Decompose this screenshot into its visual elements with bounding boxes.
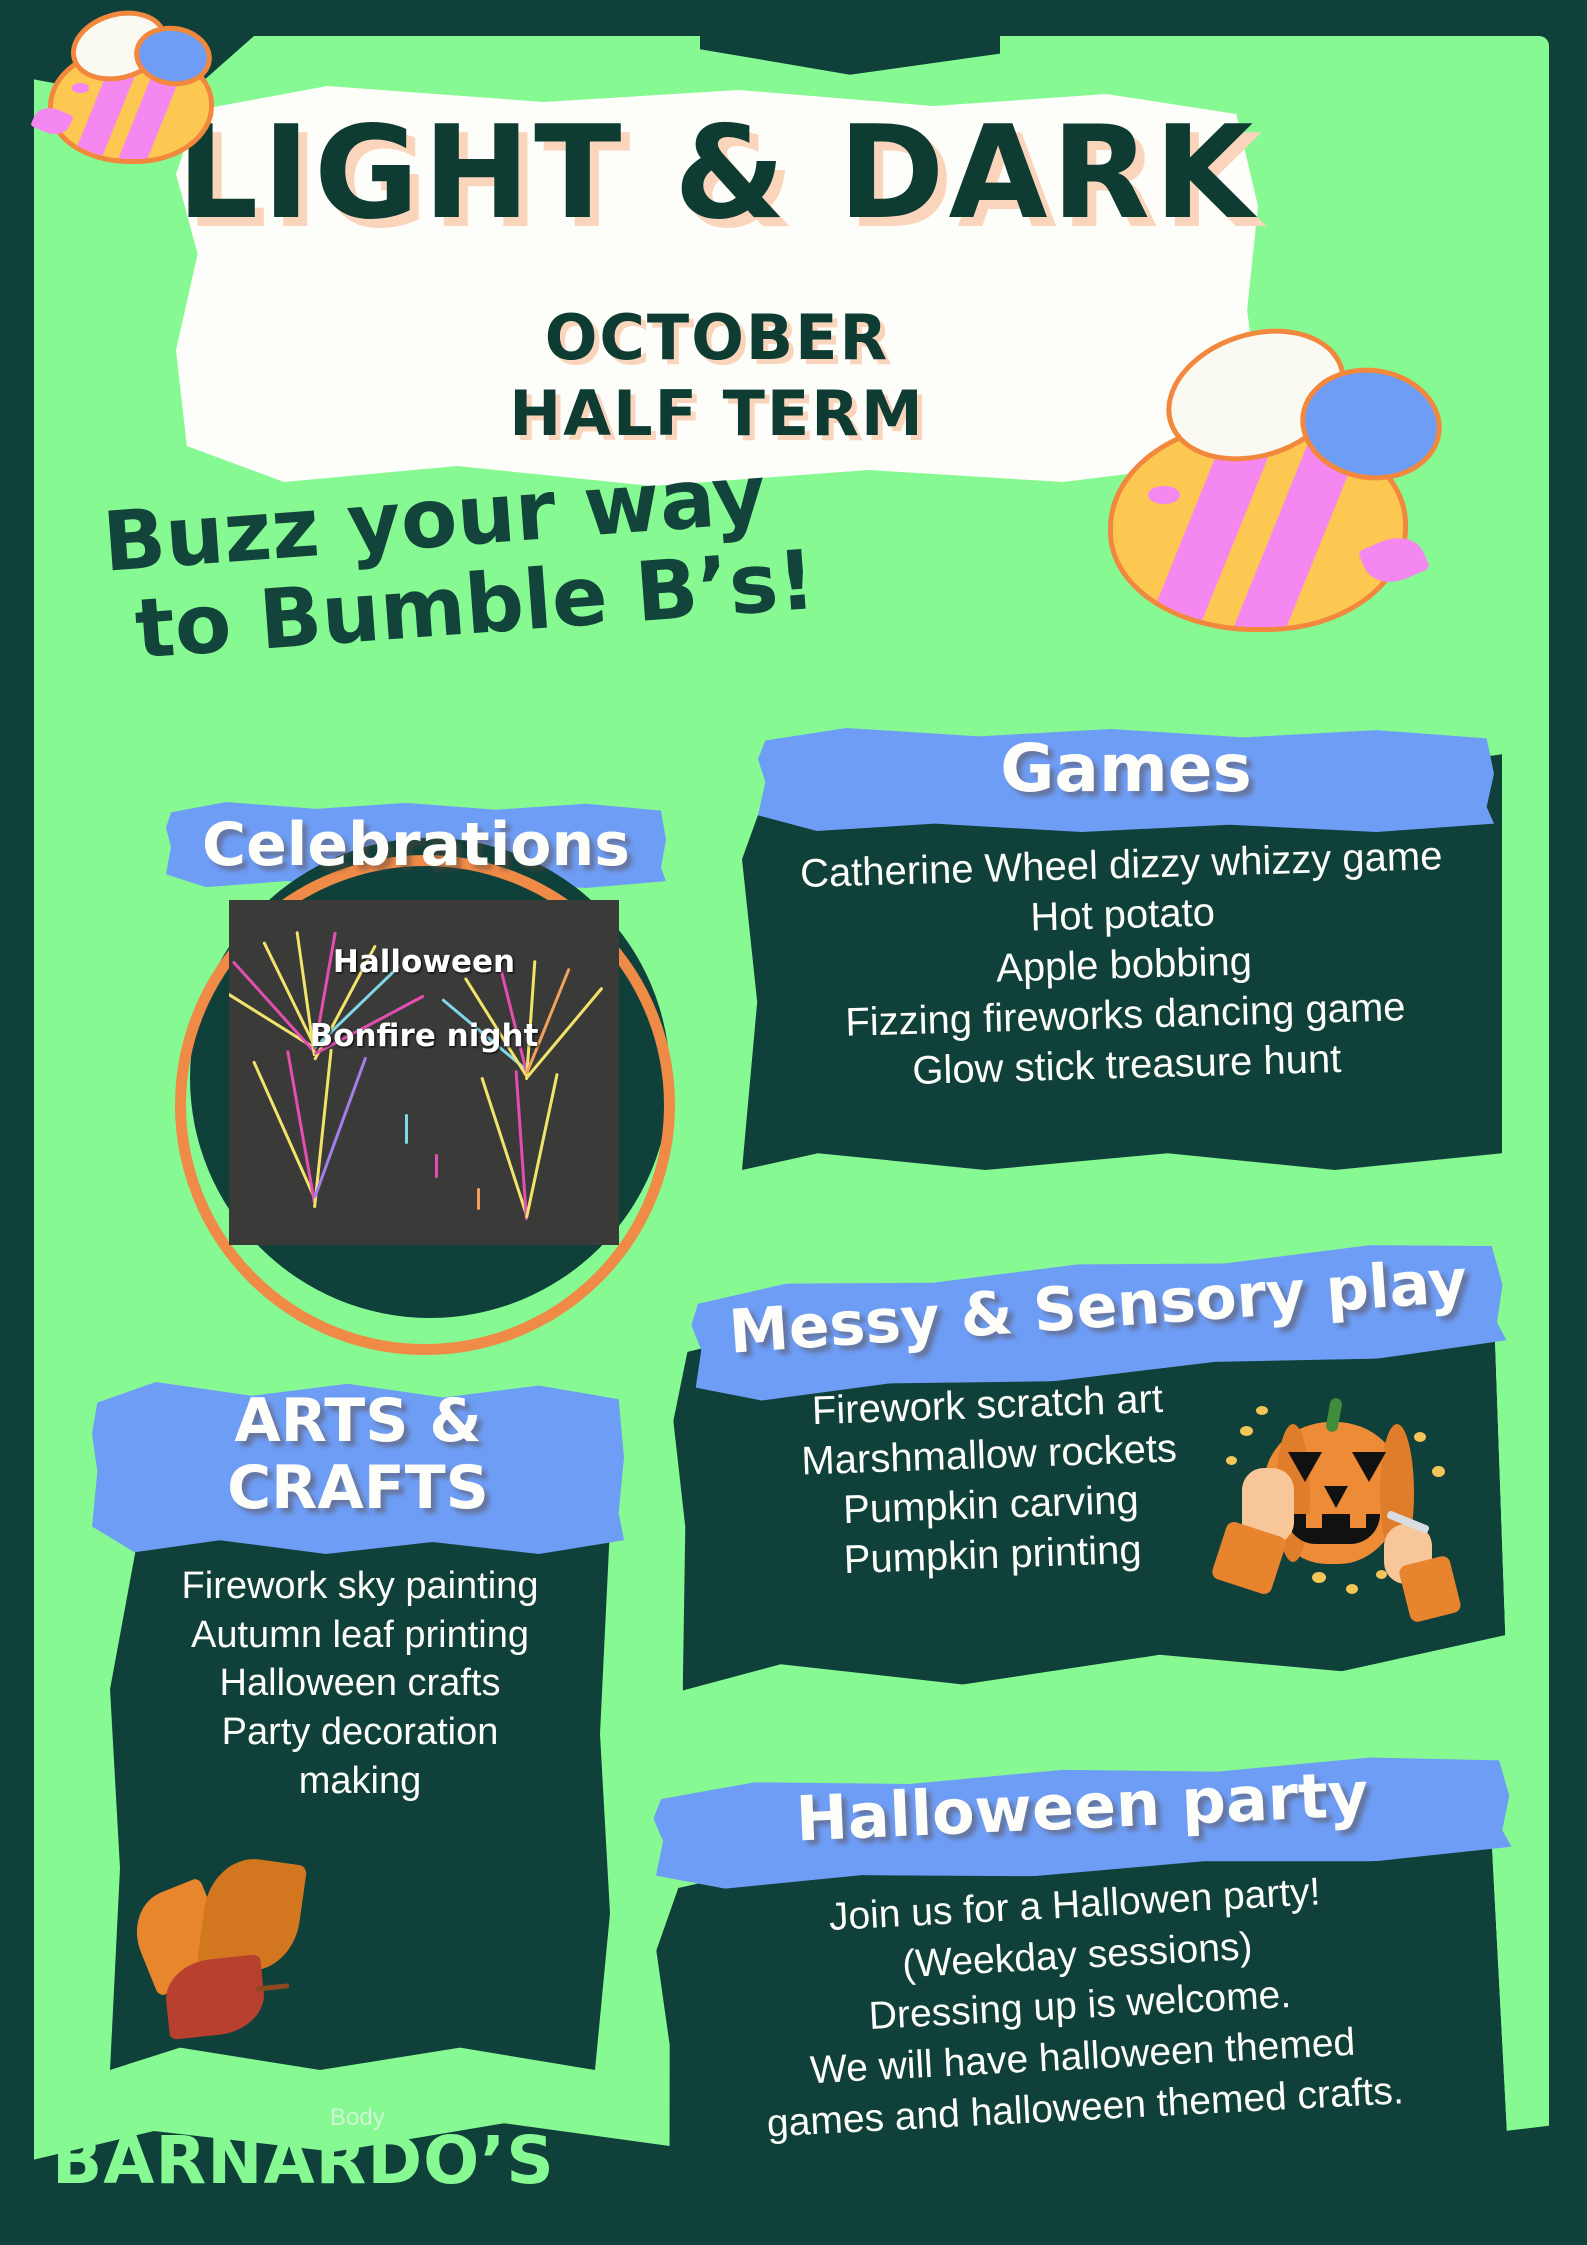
games-title: Games xyxy=(758,730,1494,807)
firework-ray xyxy=(252,1060,316,1198)
pumpkin-seed xyxy=(1312,1572,1326,1583)
firework-spark xyxy=(435,1154,438,1178)
pumpkin-tooth xyxy=(1306,1514,1322,1528)
pumpkin-seed xyxy=(1256,1406,1268,1415)
pumpkin-eye xyxy=(1352,1452,1386,1482)
pumpkin-nose xyxy=(1324,1486,1348,1508)
arts-crafts-title-line-1: ARTS & xyxy=(234,1386,481,1456)
sleeve-right xyxy=(1398,1555,1462,1624)
poster-root: LIGHT & DARK OCTOBER HALF TERM Buzz your… xyxy=(0,0,1587,2245)
bumble-bee-icon-top-left xyxy=(48,46,214,164)
leaf-blade xyxy=(162,1954,267,2040)
halloween-party-list: Join us for a Hallowen party! (Weekday s… xyxy=(654,1858,1506,2155)
messy-sensory-list: Firework scratch art Marshmallow rockets… xyxy=(687,1370,1294,1591)
list-item: Halloween crafts xyxy=(110,1659,610,1708)
pumpkin-seed xyxy=(1432,1466,1445,1477)
bee-eye xyxy=(1148,486,1180,504)
subtitle-line-1: OCTOBER xyxy=(545,301,890,374)
pumpkin-seed xyxy=(1226,1456,1237,1465)
leaf-red xyxy=(162,1954,267,2040)
page-title: LIGHT & DARK xyxy=(176,110,1258,238)
autumn-leaves-icon xyxy=(138,1855,378,2065)
page-subtitle: OCTOBER HALF TERM xyxy=(176,300,1258,451)
logo-wordmark: BARNARDO’S xyxy=(52,2122,555,2199)
list-item: Autumn leaf printing xyxy=(110,1611,610,1660)
firework-spark xyxy=(477,1188,480,1210)
pumpkin-seed xyxy=(1346,1584,1358,1594)
pumpkin-seed xyxy=(1414,1432,1426,1442)
list-item: Firework sky painting xyxy=(110,1562,610,1611)
firework-ray xyxy=(313,1049,333,1208)
bee-eye xyxy=(72,83,89,93)
firework-spark xyxy=(405,1114,408,1144)
arts-crafts-list: Firework sky painting Autumn leaf printi… xyxy=(110,1562,610,1805)
firework-ray xyxy=(525,1073,559,1218)
firework-ray xyxy=(286,1050,316,1203)
pumpkin-eye xyxy=(1288,1452,1322,1482)
arts-crafts-title: ARTS & CRAFTS xyxy=(92,1388,624,1522)
subtitle-line-2: HALF TERM xyxy=(509,377,924,450)
celebrations-title: Celebrations xyxy=(166,810,666,880)
games-list: Catherine Wheel dizzy whizzy game Hot po… xyxy=(743,829,1506,1100)
celebrations-caption-2: Bonfire night xyxy=(229,1018,619,1054)
logo-tagline: Body xyxy=(330,2104,385,2132)
pumpkin-seed xyxy=(1376,1570,1387,1579)
fireworks-photo: Halloween Bonfire night xyxy=(229,900,619,1245)
barnardos-logo: BARNARDO’S Body xyxy=(52,2104,512,2214)
list-item: making xyxy=(110,1757,610,1806)
bumble-bee-icon-top-right xyxy=(1108,420,1408,632)
celebrations-caption-1: Halloween xyxy=(229,944,619,980)
pumpkin-tooth xyxy=(1350,1514,1366,1528)
arts-crafts-title-line-2: CRAFTS xyxy=(227,1453,489,1523)
pumpkin-seed xyxy=(1240,1426,1253,1436)
list-item: Party decoration xyxy=(110,1708,610,1757)
pumpkin-carving-icon xyxy=(1208,1390,1470,1622)
